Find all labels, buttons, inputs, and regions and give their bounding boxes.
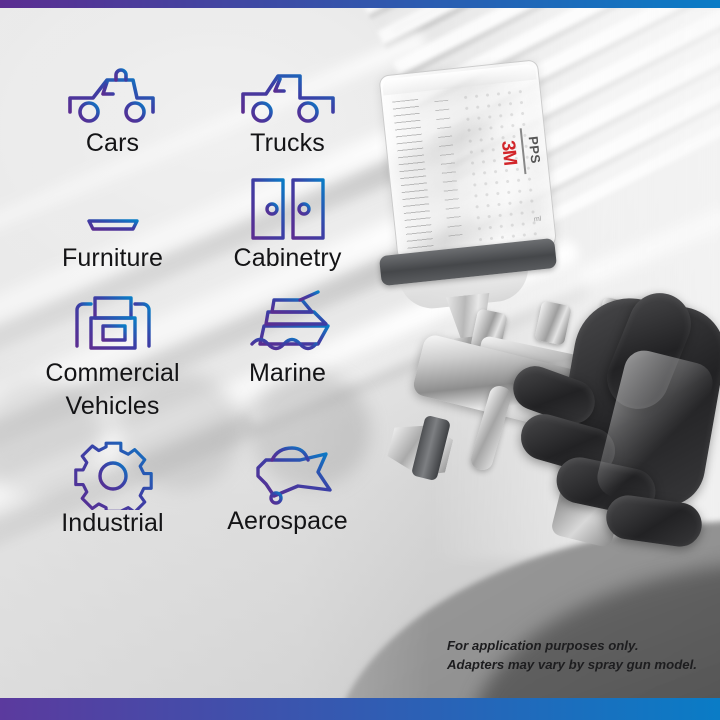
pps-paint-cup: PPS 3M ml	[378, 59, 557, 267]
cabinet-doors-icon	[245, 173, 331, 245]
boat-icon	[240, 290, 336, 360]
application-item-cars[interactable]: Cars	[25, 60, 200, 157]
application-item-industrial[interactable]: Industrial	[25, 438, 200, 537]
car-icon	[63, 60, 163, 130]
applications-row: Commercial Vehicles Marine	[0, 290, 400, 420]
fan-knob	[534, 300, 572, 345]
application-item-furniture[interactable]: Furniture	[25, 173, 200, 272]
chair-icon	[73, 173, 153, 245]
application-item-cabinetry[interactable]: Cabinetry	[200, 173, 375, 272]
applications-row: Furniture Cabinetry	[0, 173, 400, 272]
application-label: Industrial	[61, 510, 163, 537]
applications-row: Industrial Aerospace	[0, 438, 400, 537]
application-item-trucks[interactable]: Trucks	[200, 60, 375, 157]
disclaimer-line-1: For application purposes only.	[447, 636, 712, 655]
applications-row: Cars Trucks	[0, 60, 400, 157]
pps-wordmark: PPS	[526, 136, 544, 165]
application-item-marine[interactable]: Marine	[200, 290, 375, 420]
cup-volume-mark: ml	[534, 216, 542, 224]
gear-icon	[73, 438, 153, 510]
disclaimer-line-2: Adapters may vary by spray gun model.	[447, 655, 712, 674]
bottom-brand-bar	[0, 698, 720, 720]
application-label: Trucks	[250, 130, 325, 157]
application-label: Marine	[249, 360, 326, 387]
application-label: Commercial	[45, 360, 179, 387]
application-item-aerospace[interactable]: Aerospace	[200, 438, 375, 537]
semi-truck-icon	[67, 290, 159, 360]
cup-branding: PPS 3M	[429, 112, 546, 197]
3m-logo: 3M	[496, 139, 520, 166]
spray-gun-with-pps-cup: PPS 3M ml	[370, 55, 720, 525]
pickup-truck-icon	[238, 60, 338, 130]
application-label-line2: Vehicles	[66, 393, 160, 420]
application-label: Furniture	[62, 245, 163, 272]
disclaimer-text: For application purposes only. Adapters …	[447, 636, 712, 674]
application-label: Aerospace	[227, 508, 347, 535]
promo-image: PPS 3M ml	[0, 0, 720, 720]
application-label: Cabinetry	[234, 245, 342, 272]
application-item-commercial-vehicles[interactable]: Commercial Vehicles	[25, 290, 200, 420]
top-brand-bar	[0, 0, 720, 8]
airplane-icon	[238, 438, 338, 508]
applications-grid: Cars Trucks	[0, 60, 400, 537]
application-label: Cars	[86, 130, 139, 157]
